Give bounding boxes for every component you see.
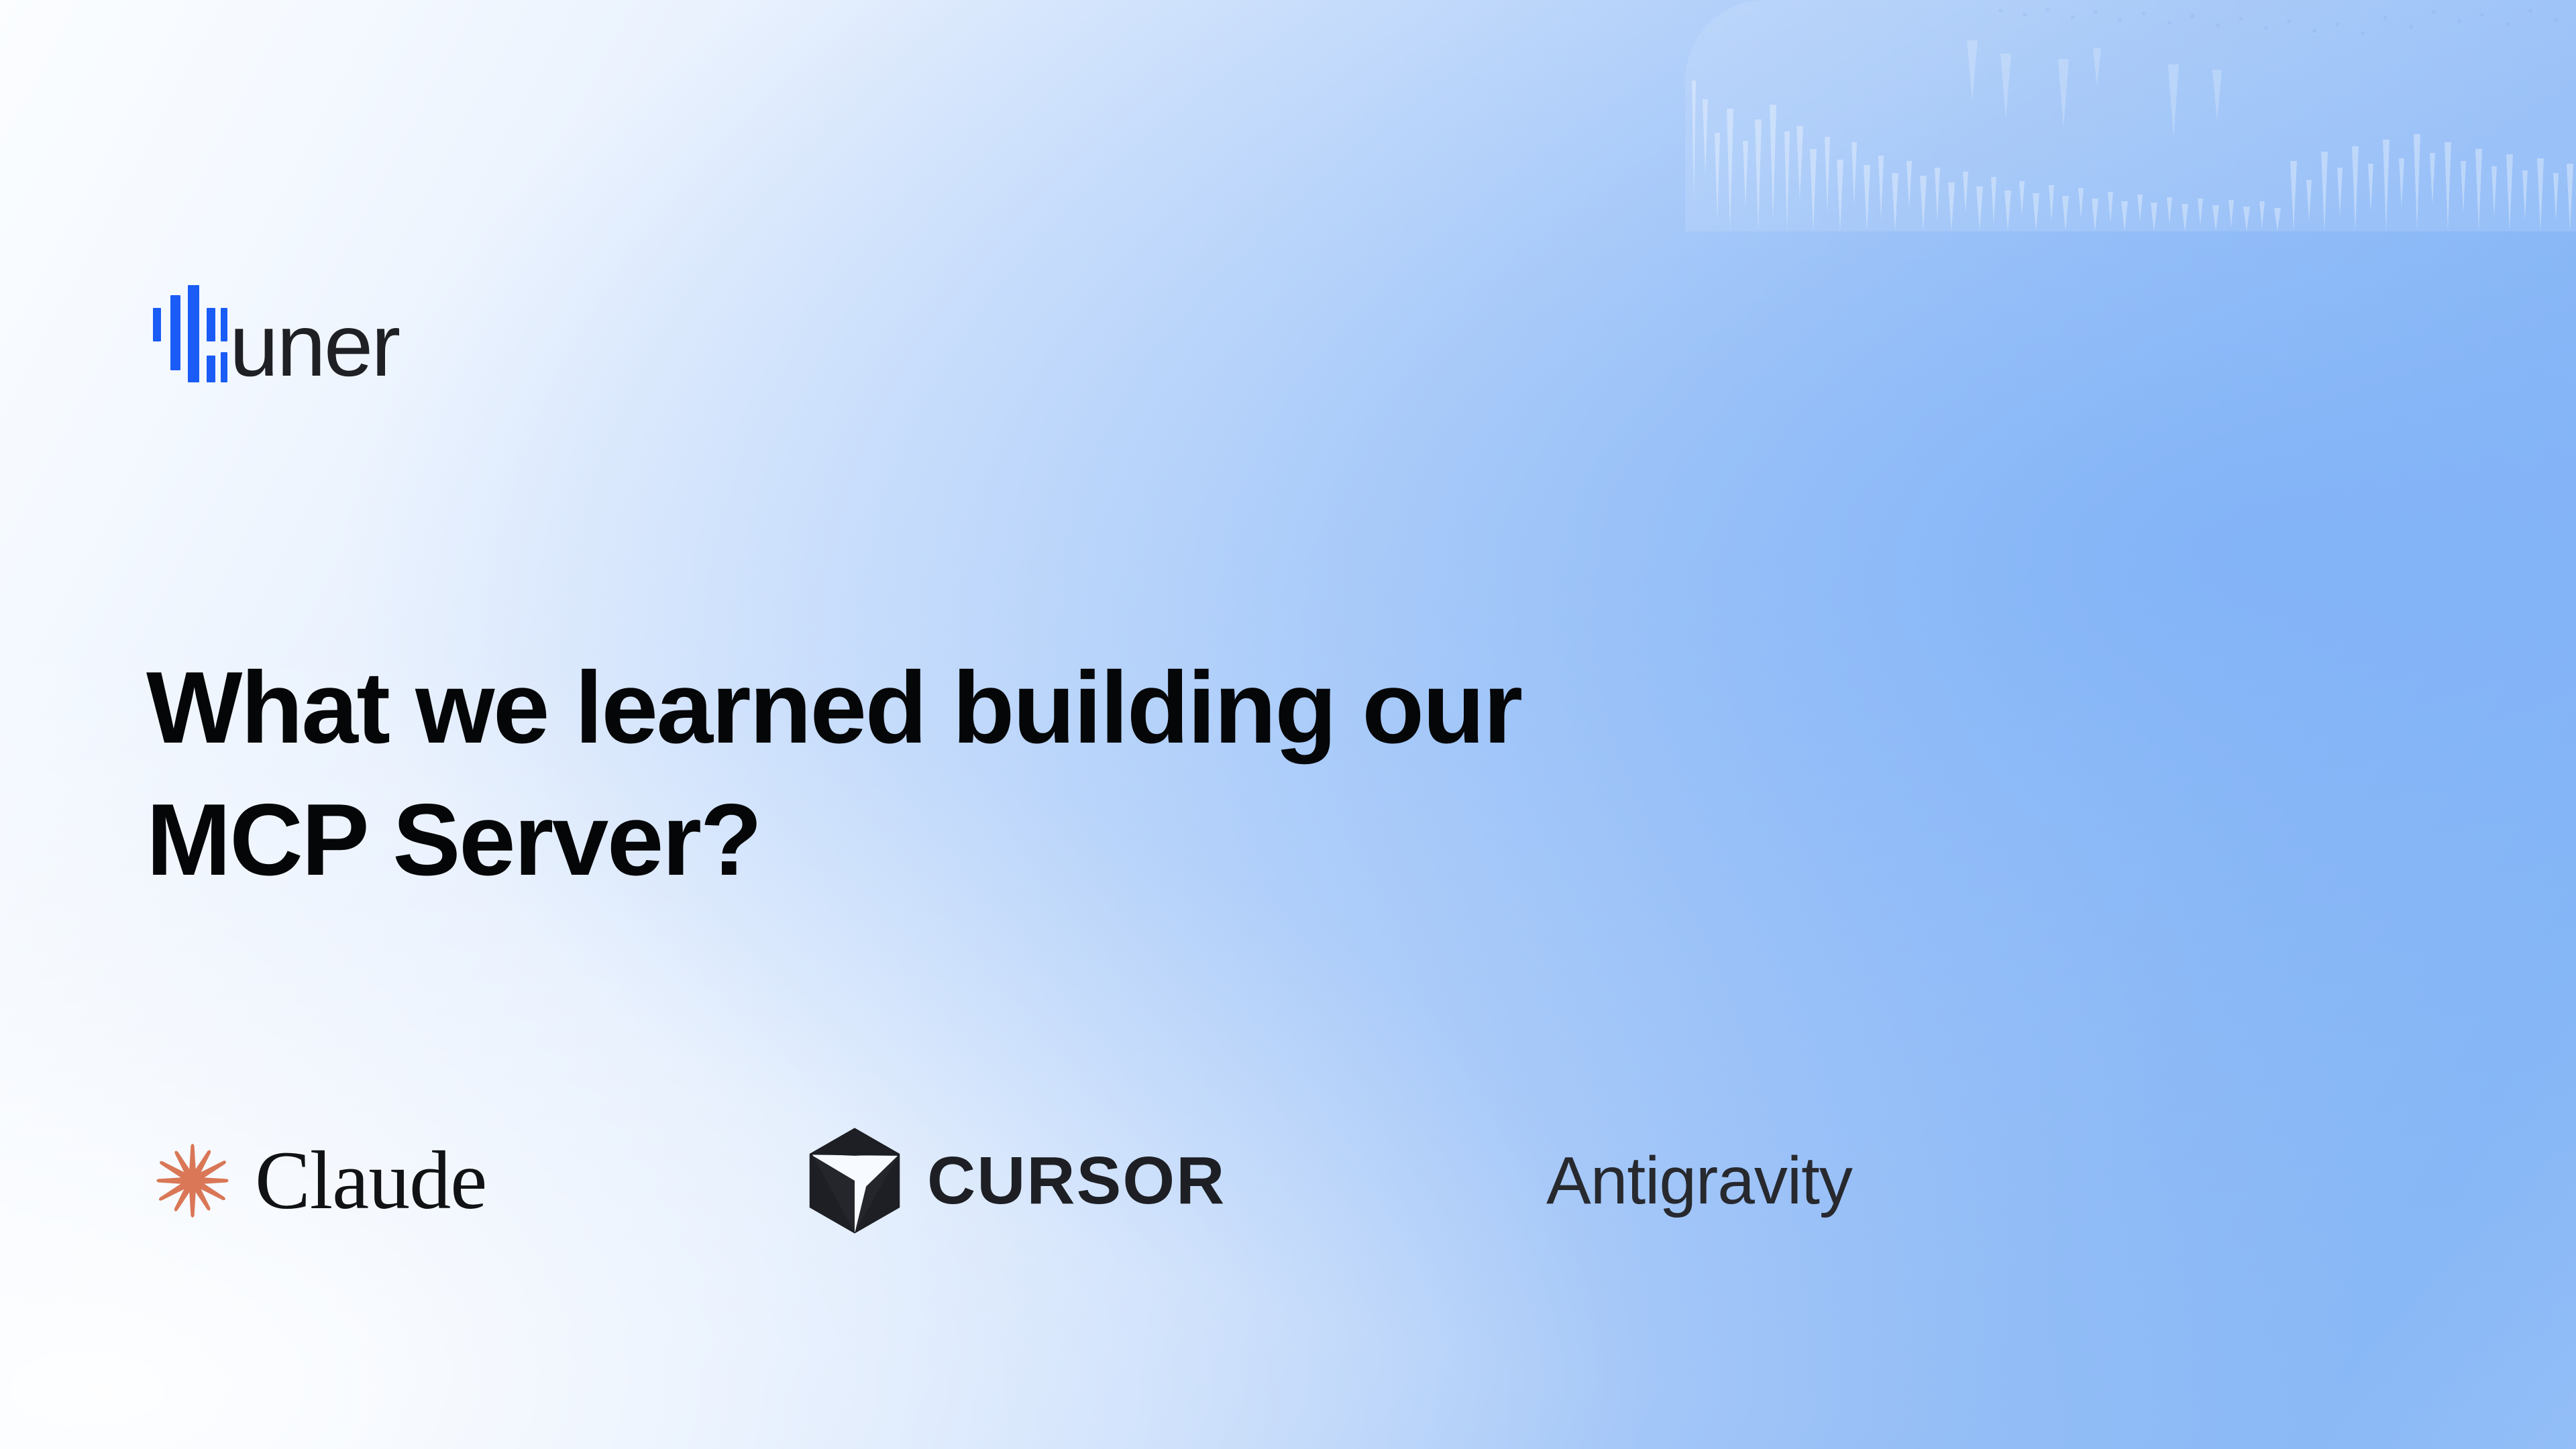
partner-label-antigravity: Antigravity	[1546, 1147, 1852, 1214]
waveform-bar	[221, 352, 227, 382]
audio-waveform-watermark	[1685, 0, 2576, 231]
claude-starburst-icon	[149, 1137, 236, 1224]
cursor-cube-icon	[805, 1127, 904, 1234]
waveform-bar	[153, 308, 161, 341]
partner-logo-cursor[interactable]: CURSOR	[805, 1117, 1226, 1244]
partner-label-cursor: CURSOR	[927, 1147, 1226, 1214]
waveform-bar	[170, 295, 180, 370]
partner-logo-claude[interactable]: Claude	[149, 1117, 486, 1244]
partner-label-claude: Claude	[255, 1139, 486, 1222]
brand-logo[interactable]: uner	[153, 278, 398, 392]
headline-line-1: What we learned building our	[146, 642, 2125, 775]
headline-line-2: MCP Server?	[146, 774, 2125, 907]
partner-logo-antigravity[interactable]: Antigravity	[1546, 1117, 1852, 1244]
waveform-bar	[207, 308, 215, 341]
partner-logo-row: Claude CURSOR	[0, 1117, 2576, 1258]
waveform-bar	[221, 308, 227, 341]
waveform-bar	[207, 356, 215, 382]
waveform-bar	[188, 285, 199, 382]
brand-wordmark: uner	[229, 301, 398, 390]
page-title: What we learned building our MCP Server?	[146, 642, 2125, 907]
presentation-slide: uner What we learned building our MCP Se…	[0, 0, 2576, 1449]
waveform-icon	[153, 285, 227, 392]
